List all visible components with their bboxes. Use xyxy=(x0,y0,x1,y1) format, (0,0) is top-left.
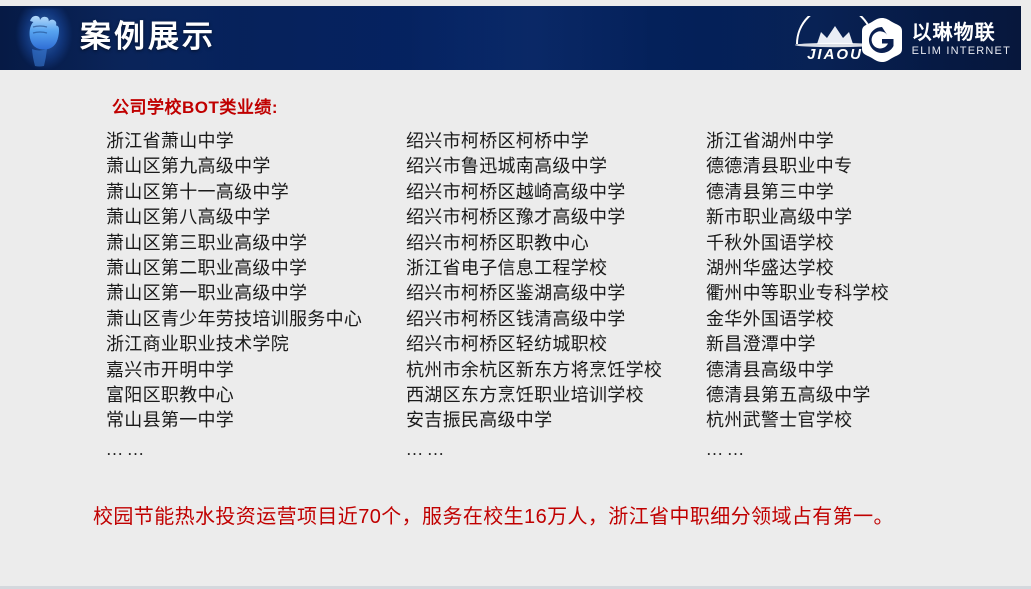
list-item: 湖州华盛达学校 xyxy=(706,256,1006,281)
school-column-1: 浙江省萧山中学 萧山区第九高级中学 萧山区第十一高级中学 萧山区第八高级中学 萧… xyxy=(106,129,406,462)
fist-icon-shape xyxy=(20,11,60,67)
section-title: 公司学校BOT类业绩: xyxy=(112,93,278,118)
list-item: 富阳区职教中心 xyxy=(106,383,406,408)
list-item: 金华外国语学校 xyxy=(706,307,1006,332)
list-item: 萧山区第二职业高级中学 xyxy=(106,256,406,281)
school-column-3: 浙江省湖州中学 德德清县职业中专 德清县第三中学 新市职业高级中学 千秋外国语学… xyxy=(706,129,1006,462)
list-item: 绍兴市柯桥区越崎高级中学 xyxy=(406,180,706,205)
list-item: 德清县第五高级中学 xyxy=(706,383,1006,408)
list-item: 绍兴市柯桥区轻纺城职校 xyxy=(406,332,706,357)
footer-summary-note: 校园节能热水投资运营项目近70个，服务在校生16万人，浙江省中职细分领域占有第一… xyxy=(93,500,894,529)
list-item: 千秋外国语学校 xyxy=(706,231,1006,256)
list-item: 萧山区青少年劳技培训服务中心 xyxy=(106,307,406,332)
list-item: 绍兴市柯桥区豫才高级中学 xyxy=(406,205,706,230)
list-ellipsis: …… xyxy=(706,434,1006,462)
list-item: 德清县高级中学 xyxy=(706,358,1006,383)
list-item: 新昌澄潭中学 xyxy=(706,332,1006,357)
elim-name-en: ELIM INTERNET xyxy=(912,46,1011,57)
list-item: 杭州武警士官学校 xyxy=(706,408,1006,433)
list-item: 衢州中等职业专科学校 xyxy=(706,281,1006,306)
elim-name-cn: 以琳物联 xyxy=(912,23,1011,43)
elim-logo: 以琳物联 ELIM INTERNET xyxy=(860,16,1011,64)
list-item: 萧山区第八高级中学 xyxy=(106,205,406,230)
elim-text-block: 以琳物联 ELIM INTERNET xyxy=(912,23,1011,57)
list-item: 新市职业高级中学 xyxy=(706,205,1006,230)
list-item: 浙江省湖州中学 xyxy=(706,129,1006,154)
list-item: 绍兴市柯桥区钱清高级中学 xyxy=(406,307,706,332)
list-item: 浙江省电子信息工程学校 xyxy=(406,256,706,281)
list-ellipsis: …… xyxy=(106,434,406,462)
list-item: 萧山区第三职业高级中学 xyxy=(106,231,406,256)
fist-icon xyxy=(12,8,76,70)
school-list-columns: 浙江省萧山中学 萧山区第九高级中学 萧山区第十一高级中学 萧山区第八高级中学 萧… xyxy=(106,129,1006,462)
school-column-2: 绍兴市柯桥区柯桥中学 绍兴市鲁迅城南高级中学 绍兴市柯桥区越崎高级中学 绍兴市柯… xyxy=(406,129,706,462)
slide-header: 案例展示 JIAOU 以琳物联 ELIM INTERNET xyxy=(0,6,1021,70)
list-item: 西湖区东方烹饪职业培训学校 xyxy=(406,383,706,408)
page-title: 案例展示 xyxy=(80,15,216,59)
list-item: 绍兴市鲁迅城南高级中学 xyxy=(406,154,706,179)
list-item: 萧山区第九高级中学 xyxy=(106,154,406,179)
list-item: 萧山区第十一高级中学 xyxy=(106,180,406,205)
list-item: 德德清县职业中专 xyxy=(706,154,1006,179)
list-item: 常山县第一中学 xyxy=(106,408,406,433)
list-item: 萧山区第一职业高级中学 xyxy=(106,281,406,306)
list-ellipsis: …… xyxy=(406,434,706,462)
list-item: 杭州市余杭区新东方将烹饪学校 xyxy=(406,358,706,383)
list-item: 浙江商业职业技术学院 xyxy=(106,332,406,357)
slide-case-showcase: 案例展示 JIAOU 以琳物联 ELIM INTERNET 公司学校BOT类业绩… xyxy=(0,0,1031,589)
g-hexagon-logo-icon xyxy=(860,17,904,63)
list-item: 绍兴市柯桥区柯桥中学 xyxy=(406,129,706,154)
list-item: 绍兴市柯桥区鉴湖高级中学 xyxy=(406,281,706,306)
list-item: 嘉兴市开明中学 xyxy=(106,358,406,383)
list-item: 安吉振民高级中学 xyxy=(406,408,706,433)
list-item: 绍兴市柯桥区职教中心 xyxy=(406,231,706,256)
list-item: 浙江省萧山中学 xyxy=(106,129,406,154)
list-item: 德清县第三中学 xyxy=(706,180,1006,205)
